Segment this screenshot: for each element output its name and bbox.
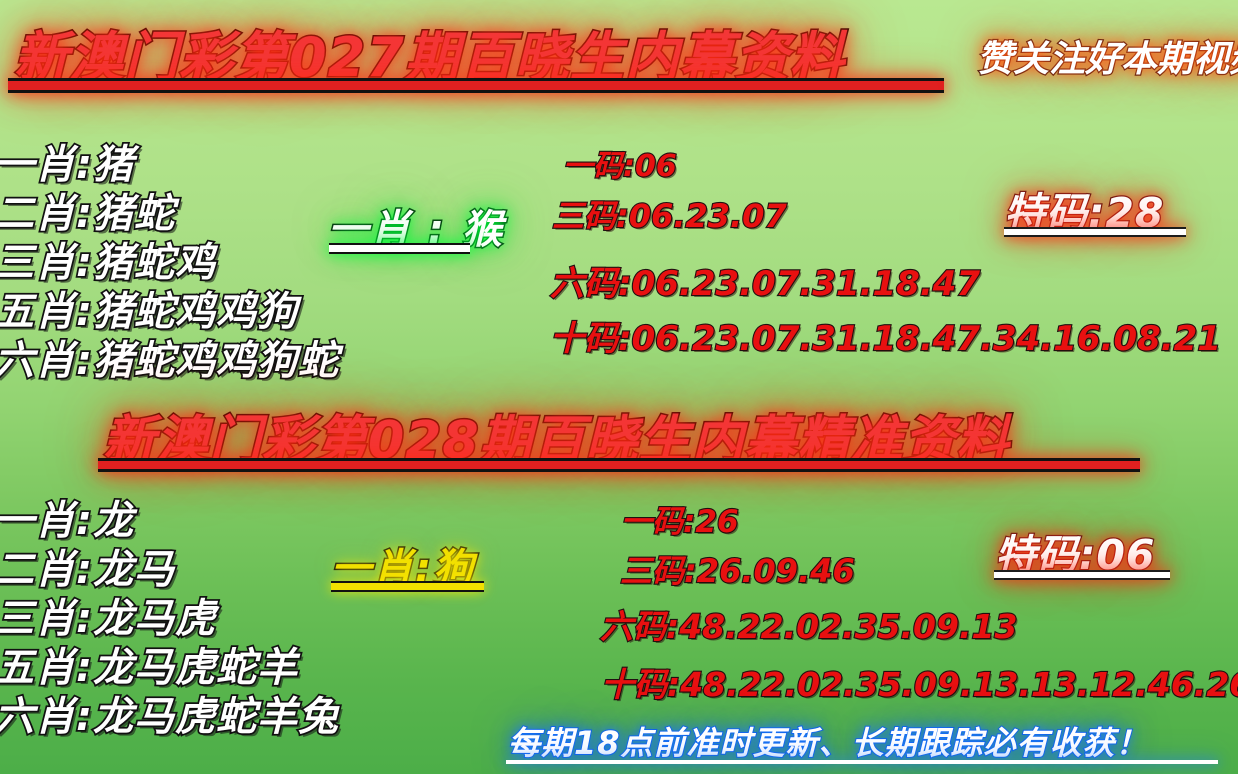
- section2-zodiac-row-6: 六肖:龙马虎蛇羊兔: [0, 684, 339, 742]
- section1-highlight-underline: [329, 243, 470, 254]
- section1-code-10: 十码:06.23.07.31.18.47.34.16.08.21: [550, 311, 1221, 360]
- section1-code-1: 一码:06: [563, 141, 677, 185]
- section2-code-1: 一码:26: [621, 496, 739, 541]
- section2-highlight-underline: [331, 581, 484, 592]
- section1-corner-note: 赞关注好本期视频: [977, 30, 1238, 82]
- section1-special-underline: [1004, 227, 1186, 237]
- section1-code-3: 三码:06.23.07: [552, 191, 787, 237]
- footer-banner-underline: [506, 760, 1218, 764]
- section1-code-6: 六码:06.23.07.31.18.47: [550, 256, 980, 305]
- footer-banner-text: 每期18点前准时更新、长期跟踪必有收获！: [508, 718, 1149, 764]
- section2-code-10: 十码:48.22.02.35.09.13.13.12.46.26.03: [601, 658, 1238, 706]
- section2-code-6: 六码:48.22.02.35.09.13: [600, 600, 1017, 648]
- section1-title-underline: [8, 78, 944, 93]
- section1-zodiac-row-6: 六肖:猪蛇鸡鸡狗蛇: [0, 328, 339, 386]
- poster-canvas: 新澳门彩第027期百晓生内幕资料 赞关注好本期视频 一肖:猪 二肖:猪蛇 三肖:…: [0, 0, 1238, 774]
- section2-special-underline: [994, 570, 1170, 580]
- section2-code-3: 三码:26.09.46: [620, 546, 855, 592]
- section2-title-underline: [98, 458, 1140, 472]
